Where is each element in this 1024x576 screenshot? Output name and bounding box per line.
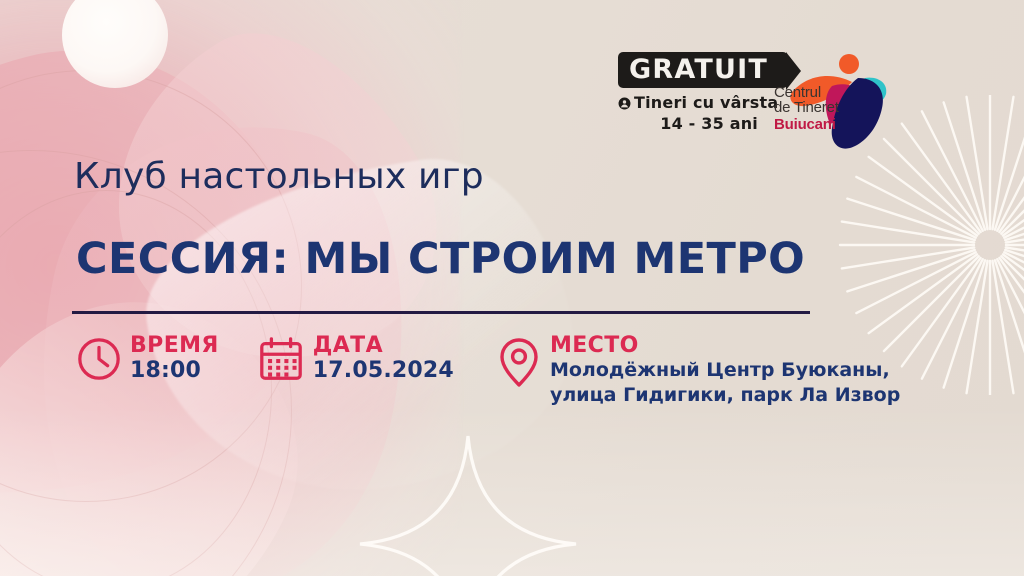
- gratuit-label: GRATUIT: [618, 52, 788, 88]
- age-line-primary: Tineri cu vârsta: [634, 93, 778, 112]
- event-time-text: ВРЕМЯ 18:00: [130, 334, 219, 383]
- event-details-row: ВРЕМЯ 18:00: [76, 334, 900, 406]
- calendar-icon: [257, 336, 305, 389]
- location-pin-icon: [496, 336, 542, 393]
- date-label: ДАТА: [313, 334, 454, 357]
- centrul-de-tineret-logo: Centrul de Tineret Buiucani: [770, 52, 890, 157]
- event-poster: GRATUIT Tineri cu vârsta 14 - 35 ani: [0, 0, 1024, 576]
- place-line-2: улица Гидигики, парк Ла Извор: [550, 384, 900, 406]
- time-value: 18:00: [130, 359, 219, 382]
- badge-cluster: GRATUIT Tineri cu vârsta 14 - 35 ani: [618, 52, 890, 157]
- event-date-block: ДАТА 17.05.2024: [257, 334, 454, 389]
- event-time-block: ВРЕМЯ 18:00: [76, 334, 219, 387]
- poster-kicker: Клуб настольных игр: [74, 156, 484, 197]
- logo-line-2: de Tineret: [774, 100, 839, 115]
- logo-wordmark: Centrul de Tineret Buiucani: [774, 85, 839, 132]
- poster-headline: СЕССИЯ: МЫ СТРОИМ МЕТРО: [76, 234, 805, 284]
- place-label: МЕСТО: [550, 334, 900, 357]
- event-place-block: МЕСТО Молодёжный Центр Буюканы, улица Ги…: [496, 334, 900, 406]
- place-line-1: Молодёжный Центр Буюканы,: [550, 359, 900, 381]
- logo-line-1: Centrul: [774, 85, 839, 100]
- age-line-secondary: 14 - 35 ani: [618, 115, 758, 133]
- event-place-text: МЕСТО Молодёжный Центр Буюканы, улица Ги…: [550, 334, 900, 406]
- gratuit-badge: GRATUIT Tineri cu vârsta 14 - 35 ani: [618, 52, 758, 133]
- event-date-text: ДАТА 17.05.2024: [313, 334, 454, 383]
- date-value: 17.05.2024: [313, 359, 454, 382]
- time-label: ВРЕМЯ: [130, 334, 219, 357]
- logo-line-3: Buiucani: [774, 117, 839, 132]
- horizontal-divider: [72, 311, 810, 314]
- age-restriction-note: Tineri cu vârsta 14 - 35 ani: [618, 94, 758, 133]
- person-icon: [618, 96, 631, 114]
- clock-icon: [76, 336, 122, 387]
